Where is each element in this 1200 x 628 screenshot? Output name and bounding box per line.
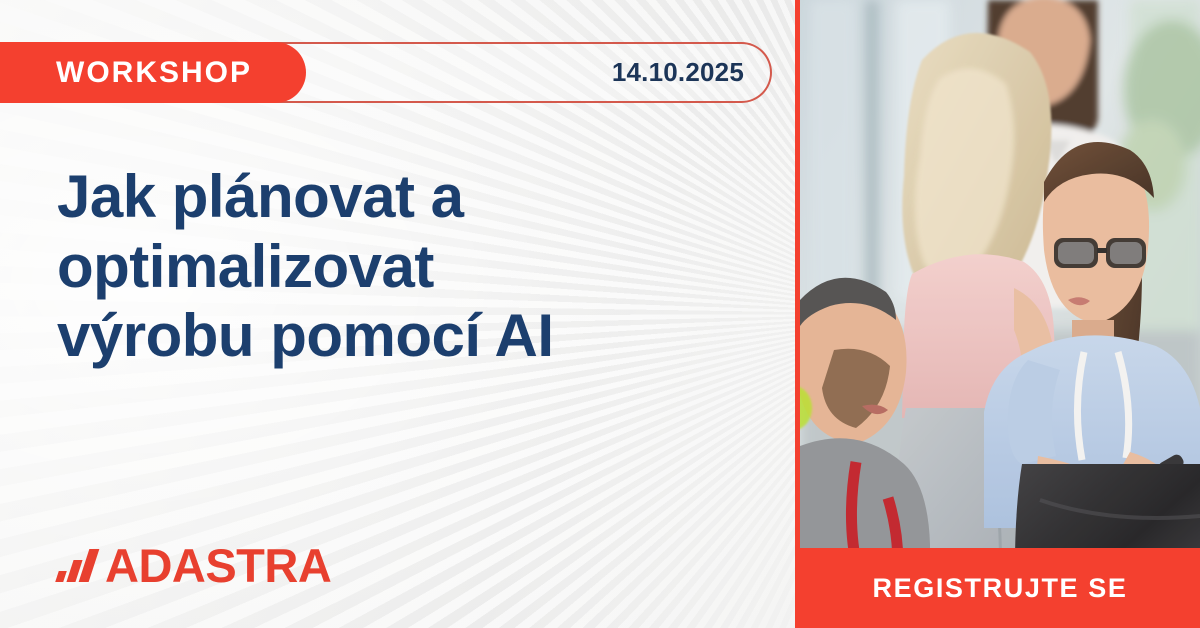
workshop-badge: WORKSHOP (0, 42, 306, 103)
workshop-badge-label: WORKSHOP (56, 58, 252, 88)
event-photo (800, 0, 1200, 628)
page-title: Jak plánovat a optimalizovat výrobu pomo… (57, 162, 747, 371)
promo-banner: WORKSHOP 14.10.2025 Jak plánovat a optim… (0, 0, 1200, 628)
logo-bar-large-icon (79, 549, 100, 582)
event-photo-illustration (800, 0, 1200, 628)
event-date: 14.10.2025 (612, 42, 744, 103)
register-cta-banner[interactable]: REGISTRUJTE SE (800, 548, 1200, 628)
eyebrow-row: WORKSHOP 14.10.2025 (0, 42, 772, 103)
adastra-logo[interactable]: ADASTRA (57, 537, 331, 593)
adastra-mark-icon (57, 548, 99, 582)
logo-bar-small-icon (55, 571, 67, 582)
adastra-wordmark: ADASTRA (105, 542, 331, 589)
register-cta-label: REGISTRUJTE SE (873, 575, 1128, 602)
